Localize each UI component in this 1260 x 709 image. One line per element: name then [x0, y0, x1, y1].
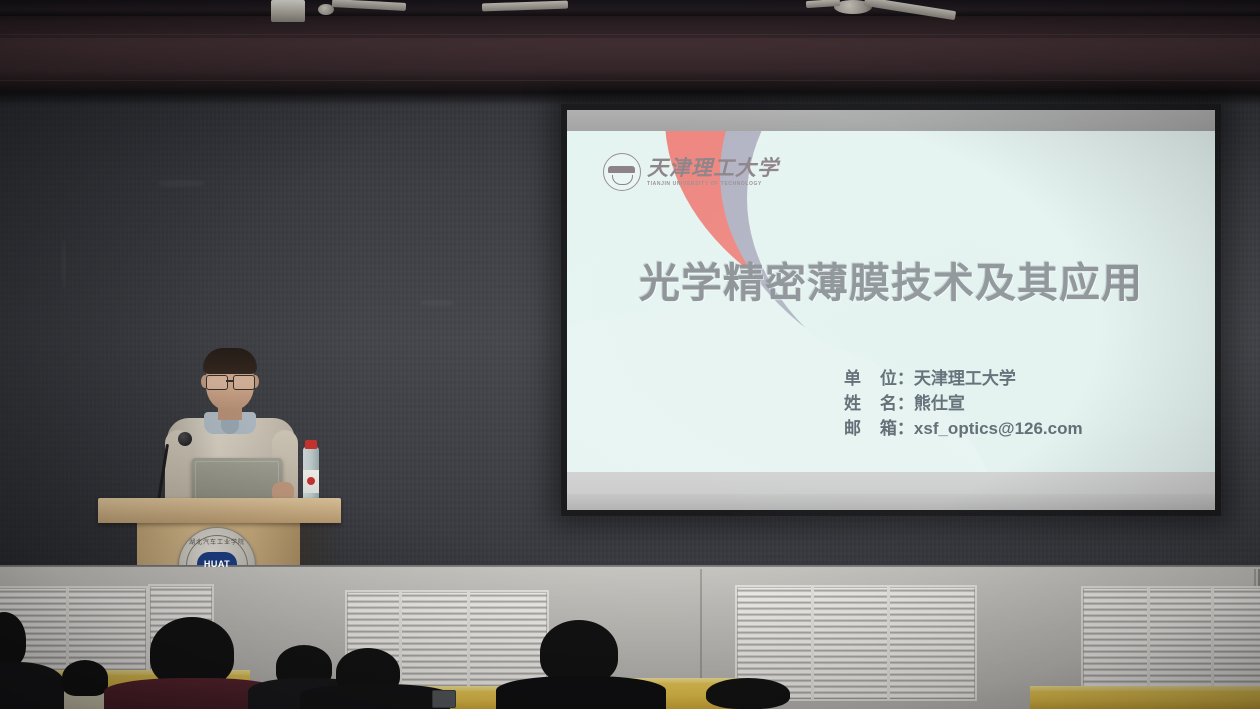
wall-mark: [62, 240, 66, 288]
audience-head: [150, 617, 234, 687]
louver-divider: [1211, 588, 1214, 698]
ceiling-sheen: [0, 38, 1260, 78]
slide-info-block: 单 位： 天津理工大学 姓 名： 熊仕宣 邮 箱： xsf_optics@126…: [844, 366, 1083, 441]
louver-divider: [399, 592, 402, 698]
ceiling-seam: [0, 80, 1260, 81]
bench-top-edge: [1030, 686, 1260, 691]
screen-top-band: [567, 110, 1215, 131]
water-bottle-label: [303, 470, 319, 493]
screen-surface: 天津理工大学 TIANJIN UNIVERSITY OF TECHNOLOGY …: [567, 110, 1215, 510]
emblem-abbreviation: HUAT: [179, 559, 255, 569]
louver-divider: [1147, 588, 1150, 698]
info-label-email: 邮 箱：: [844, 416, 914, 441]
ceiling-light-fixture: [271, 0, 305, 22]
microphone-icon: [178, 432, 192, 446]
projection-screen: 天津理工大学 TIANJIN UNIVERSITY OF TECHNOLOGY …: [561, 104, 1221, 516]
audience-shoulders: [496, 676, 666, 709]
audience-shoulders: [300, 684, 450, 709]
slide-bottom-band: [567, 472, 1215, 494]
university-name-en: TIANJIN UNIVERSITY OF TECHNOLOGY: [647, 182, 779, 187]
glasses-icon: [204, 375, 256, 388]
glasses-lens-right: [233, 375, 255, 390]
slide-info-row-affiliation: 单 位： 天津理工大学: [844, 366, 1083, 391]
water-bottle-cap: [305, 440, 317, 449]
louver-divider: [887, 587, 890, 699]
audience-head: [706, 678, 790, 709]
emblem-name-cn: 湖北汽车工业学院: [179, 537, 255, 546]
louver-divider: [467, 592, 470, 698]
glasses-lens-left: [206, 375, 228, 390]
louver-divider: [811, 587, 814, 699]
info-value-email: xsf_optics@126.com: [914, 416, 1083, 441]
university-logo: 天津理工大学 TIANJIN UNIVERSITY OF TECHNOLOGY: [603, 153, 779, 191]
podium-desktop: [98, 498, 341, 523]
info-label-name: 姓 名：: [844, 391, 914, 416]
wall-mark: [158, 180, 204, 187]
info-label-affiliation: 单 位：: [844, 366, 914, 391]
ceiling-seam: [0, 34, 1260, 35]
glasses-bridge: [226, 380, 234, 382]
wall-mark: [420, 300, 454, 306]
audience-shoulders: [0, 662, 64, 709]
ceiling-top-strip: [0, 0, 1260, 16]
slide-title: 光学精密薄膜技术及其应用: [567, 249, 1215, 309]
university-name-cn: 天津理工大学: [647, 158, 779, 179]
screen-bottom-band: [567, 494, 1215, 510]
info-value-affiliation: 天津理工大学: [914, 366, 1016, 391]
handheld-device: [432, 690, 456, 708]
university-seal-icon: [603, 153, 641, 191]
slide-info-row-email: 邮 箱： xsf_optics@126.com: [844, 416, 1083, 441]
audience-head: [62, 660, 108, 696]
university-logo-text: 天津理工大学 TIANJIN UNIVERSITY OF TECHNOLOGY: [647, 158, 779, 187]
bench-backrest: [1030, 688, 1260, 709]
info-value-name: 熊仕宣: [914, 391, 965, 416]
laptop: [192, 458, 282, 502]
speaker-hair: [203, 348, 257, 374]
presentation-slide: 天津理工大学 TIANJIN UNIVERSITY OF TECHNOLOGY …: [567, 131, 1215, 494]
radiator-louver-panel: [1081, 586, 1260, 700]
slide-info-row-name: 姓 名： 熊仕宣: [844, 391, 1083, 416]
audience-head: [540, 620, 618, 684]
lecture-hall-scene: 天津理工大学 TIANJIN UNIVERSITY OF TECHNOLOGY …: [0, 0, 1260, 709]
